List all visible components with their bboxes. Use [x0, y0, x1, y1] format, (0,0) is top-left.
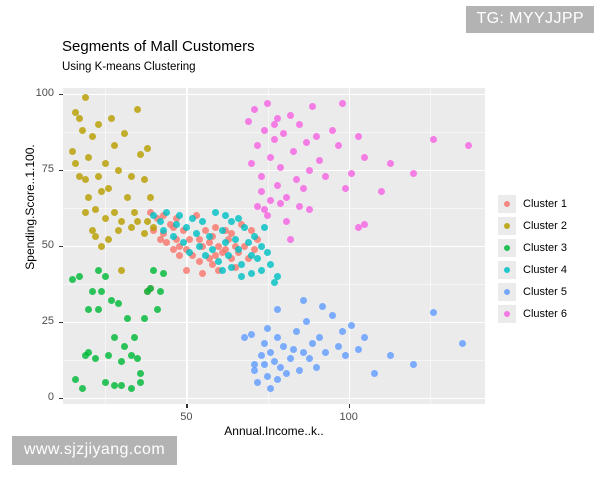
- data-point: [102, 273, 109, 280]
- data-point: [277, 364, 284, 371]
- data-point: [85, 154, 92, 161]
- data-point: [348, 170, 355, 177]
- y-tick-mark: [59, 170, 63, 171]
- data-point: [361, 221, 368, 228]
- legend: Cluster 1Cluster 2Cluster 3Cluster 4Clus…: [498, 193, 567, 325]
- data-point: [176, 212, 183, 219]
- legend-dot-icon: [504, 245, 510, 251]
- data-point: [283, 370, 290, 377]
- legend-key-swatch: [498, 283, 516, 301]
- data-point: [89, 288, 96, 295]
- data-point: [264, 249, 271, 256]
- data-point: [144, 145, 151, 152]
- x-tick-mark: [349, 404, 350, 408]
- data-point: [72, 376, 79, 383]
- data-point: [287, 355, 294, 362]
- data-point: [274, 273, 281, 280]
- data-point: [264, 373, 271, 380]
- data-point: [274, 182, 281, 189]
- legend-item-cluster-2[interactable]: Cluster 2: [498, 215, 567, 237]
- data-point: [339, 100, 346, 107]
- data-point: [95, 267, 102, 274]
- legend-dot-icon: [504, 223, 510, 229]
- legend-item-cluster-1[interactable]: Cluster 1: [498, 193, 567, 215]
- data-point: [300, 297, 307, 304]
- y-tick-label: 75: [42, 163, 54, 175]
- data-point: [134, 106, 141, 113]
- data-point: [258, 352, 265, 359]
- data-point: [102, 215, 109, 222]
- data-point: [267, 197, 274, 204]
- legend-item-cluster-6[interactable]: Cluster 6: [498, 303, 567, 325]
- data-point: [199, 218, 206, 225]
- data-point: [361, 334, 368, 341]
- legend-item-cluster-5[interactable]: Cluster 5: [498, 281, 567, 303]
- data-point: [258, 188, 265, 195]
- plot-panel: [63, 88, 485, 404]
- data-point: [241, 334, 248, 341]
- legend-item-cluster-4[interactable]: Cluster 4: [498, 259, 567, 281]
- legend-dot-icon: [504, 311, 510, 317]
- data-point: [258, 173, 265, 180]
- data-point: [121, 343, 128, 350]
- legend-item-cluster-3[interactable]: Cluster 3: [498, 237, 567, 259]
- data-point: [245, 118, 252, 125]
- data-point: [196, 258, 203, 265]
- data-point: [274, 306, 281, 313]
- data-point: [111, 209, 118, 216]
- data-point: [199, 270, 206, 277]
- data-point: [186, 249, 193, 256]
- data-point: [128, 224, 135, 231]
- y-tick-mark: [59, 322, 63, 323]
- legend-key-swatch: [498, 239, 516, 257]
- gridline-major-horizontal: [63, 170, 485, 171]
- data-point: [232, 236, 239, 243]
- data-point: [280, 130, 287, 137]
- data-point: [410, 361, 417, 368]
- watermark-bottom-left: www.sjzjiyang.com: [12, 436, 177, 465]
- data-point: [322, 173, 329, 180]
- data-point: [271, 136, 278, 143]
- data-point: [85, 306, 92, 313]
- data-point: [209, 246, 216, 253]
- data-point: [371, 370, 378, 377]
- gridline-major-horizontal: [63, 94, 485, 95]
- data-point: [131, 334, 138, 341]
- data-point: [264, 325, 271, 332]
- data-point: [387, 160, 394, 167]
- data-point: [267, 154, 274, 161]
- y-tick-mark: [59, 246, 63, 247]
- data-point: [154, 306, 161, 313]
- data-point: [105, 352, 112, 359]
- data-point: [79, 385, 86, 392]
- data-point: [283, 218, 290, 225]
- data-point: [137, 151, 144, 158]
- watermark-top-right: TG: MYYJJPP: [466, 6, 594, 33]
- data-point: [261, 127, 268, 134]
- scatter-plot-figure: TG: MYYJJPP Segments of Mall Customers U…: [0, 0, 600, 480]
- data-point: [335, 142, 342, 149]
- data-point: [137, 379, 144, 386]
- data-point: [254, 255, 261, 262]
- data-point: [118, 218, 125, 225]
- data-point: [85, 349, 92, 356]
- data-point: [76, 115, 83, 122]
- data-point: [134, 355, 141, 362]
- data-point: [206, 233, 213, 240]
- data-point: [290, 346, 297, 353]
- data-point: [196, 243, 203, 250]
- data-point: [222, 212, 229, 219]
- data-point: [131, 209, 138, 216]
- data-point: [329, 127, 336, 134]
- data-point: [245, 239, 252, 246]
- data-point: [219, 227, 226, 234]
- data-point: [287, 112, 294, 119]
- plot-subtitle: Using K-means Clustering: [62, 61, 196, 73]
- legend-label: Cluster 5: [523, 286, 567, 298]
- data-point: [105, 185, 112, 192]
- data-point: [355, 346, 362, 353]
- data-point: [465, 142, 472, 149]
- data-point: [261, 361, 268, 368]
- data-point: [277, 200, 284, 207]
- x-tick-label: 100: [339, 411, 357, 423]
- data-point: [430, 309, 437, 316]
- data-point: [296, 203, 303, 210]
- data-point: [258, 243, 265, 250]
- data-point: [293, 328, 300, 335]
- data-point: [92, 355, 99, 362]
- legend-label: Cluster 3: [523, 242, 567, 254]
- data-point: [147, 194, 154, 201]
- data-point: [271, 279, 278, 286]
- data-point: [303, 139, 310, 146]
- data-point: [300, 185, 307, 192]
- legend-key-swatch: [498, 217, 516, 235]
- data-point: [300, 349, 307, 356]
- data-point: [173, 221, 180, 228]
- data-point: [160, 270, 167, 277]
- data-point: [309, 103, 316, 110]
- data-point: [238, 273, 245, 280]
- data-point: [280, 343, 287, 350]
- data-point: [235, 215, 242, 222]
- data-point: [183, 224, 190, 231]
- data-point: [69, 148, 76, 155]
- data-point: [306, 167, 313, 174]
- data-point: [118, 382, 125, 389]
- data-point: [176, 252, 183, 259]
- data-point: [283, 194, 290, 201]
- data-point: [296, 121, 303, 128]
- data-point: [118, 358, 125, 365]
- data-point: [128, 385, 135, 392]
- data-point: [163, 209, 170, 216]
- data-point: [183, 267, 190, 274]
- data-point: [137, 370, 144, 377]
- data-point: [274, 376, 281, 383]
- data-point: [251, 367, 258, 374]
- data-point: [264, 100, 271, 107]
- data-point: [95, 121, 102, 128]
- gridline-minor-horizontal: [63, 208, 485, 209]
- y-tick-label: 100: [36, 87, 54, 99]
- data-point: [144, 218, 151, 225]
- data-point: [219, 267, 226, 274]
- legend-key-swatch: [498, 305, 516, 323]
- data-point: [459, 340, 466, 347]
- y-tick-label: 25: [42, 315, 54, 327]
- legend-key-swatch: [498, 195, 516, 213]
- y-tick-label: 0: [48, 391, 54, 403]
- data-point: [267, 349, 274, 356]
- data-point: [339, 328, 346, 335]
- data-point: [306, 206, 313, 213]
- data-point: [271, 121, 278, 128]
- gridline-major-horizontal: [63, 322, 485, 323]
- data-point: [141, 230, 148, 237]
- data-point: [102, 379, 109, 386]
- data-point: [121, 130, 128, 137]
- data-point: [92, 233, 99, 240]
- data-point: [342, 185, 349, 192]
- data-point: [290, 148, 297, 155]
- data-point: [82, 209, 89, 216]
- data-point: [202, 252, 209, 259]
- data-point: [147, 285, 154, 292]
- data-point: [410, 170, 417, 177]
- x-tick-label: 50: [180, 411, 192, 423]
- y-axis-title: Spending.Score..1.100.: [23, 97, 37, 317]
- data-point: [82, 176, 89, 183]
- data-point: [316, 157, 323, 164]
- data-point: [235, 246, 242, 253]
- legend-label: Cluster 6: [523, 308, 567, 320]
- data-point: [248, 270, 255, 277]
- data-point: [261, 224, 268, 231]
- data-point: [115, 167, 122, 174]
- data-point: [115, 227, 122, 234]
- legend-key-swatch: [498, 261, 516, 279]
- legend-dot-icon: [504, 289, 510, 295]
- data-point: [215, 258, 222, 265]
- data-point: [335, 343, 342, 350]
- legend-dot-icon: [504, 201, 510, 207]
- data-point: [98, 243, 105, 250]
- data-point: [186, 236, 193, 243]
- data-point: [264, 212, 271, 219]
- data-point: [157, 288, 164, 295]
- data-point: [189, 215, 196, 222]
- data-point: [287, 236, 294, 243]
- data-point: [150, 267, 157, 274]
- data-point: [313, 133, 320, 140]
- data-point: [124, 194, 131, 201]
- legend-label: Cluster 2: [523, 220, 567, 232]
- data-point: [296, 367, 303, 374]
- gridline-major-horizontal: [63, 246, 485, 247]
- data-point: [387, 352, 394, 359]
- data-point: [248, 160, 255, 167]
- data-point: [115, 300, 122, 307]
- data-point: [111, 142, 118, 149]
- data-point: [348, 322, 355, 329]
- data-point: [430, 136, 437, 143]
- data-point: [105, 236, 112, 243]
- data-point: [254, 142, 261, 149]
- data-point: [193, 230, 200, 237]
- data-point: [76, 273, 83, 280]
- data-point: [118, 267, 125, 274]
- y-tick-mark: [59, 94, 63, 95]
- data-point: [225, 252, 232, 259]
- data-point: [274, 334, 281, 341]
- data-point: [329, 312, 336, 319]
- data-point: [303, 318, 310, 325]
- data-point: [267, 261, 274, 268]
- data-point: [254, 379, 261, 386]
- data-point: [309, 340, 316, 347]
- data-point: [293, 176, 300, 183]
- data-point: [316, 334, 323, 341]
- y-tick-label: 50: [42, 239, 54, 251]
- data-point: [111, 334, 118, 341]
- data-point: [261, 340, 268, 347]
- plot-title: Segments of Mall Customers: [62, 38, 255, 55]
- data-point: [157, 218, 164, 225]
- legend-dot-icon: [504, 267, 510, 273]
- data-point: [108, 115, 115, 122]
- data-point: [128, 173, 135, 180]
- data-point: [102, 160, 109, 167]
- data-point: [95, 173, 102, 180]
- data-point: [378, 188, 385, 195]
- data-point: [319, 303, 326, 310]
- data-point: [277, 164, 284, 171]
- data-point: [355, 133, 362, 140]
- data-point: [342, 352, 349, 359]
- x-tick-mark: [186, 404, 187, 408]
- gridline-major-horizontal: [63, 398, 485, 399]
- data-point: [92, 206, 99, 213]
- data-point: [267, 385, 274, 392]
- y-tick-mark: [59, 398, 63, 399]
- data-point: [212, 209, 219, 216]
- data-point: [258, 267, 265, 274]
- data-point: [95, 306, 102, 313]
- data-point: [271, 358, 278, 365]
- data-point: [134, 218, 141, 225]
- data-point: [322, 349, 329, 356]
- data-point: [306, 355, 313, 362]
- data-point: [251, 106, 258, 113]
- data-point: [238, 261, 245, 268]
- data-point: [248, 331, 255, 338]
- data-point: [361, 154, 368, 161]
- legend-label: Cluster 1: [523, 198, 567, 210]
- data-point: [85, 194, 92, 201]
- legend-label: Cluster 4: [523, 264, 567, 276]
- data-point: [313, 364, 320, 371]
- data-point: [141, 176, 148, 183]
- data-point: [82, 94, 89, 101]
- data-point: [89, 133, 96, 140]
- data-point: [72, 160, 79, 167]
- data-point: [79, 127, 86, 134]
- gridline-major-vertical: [349, 88, 350, 404]
